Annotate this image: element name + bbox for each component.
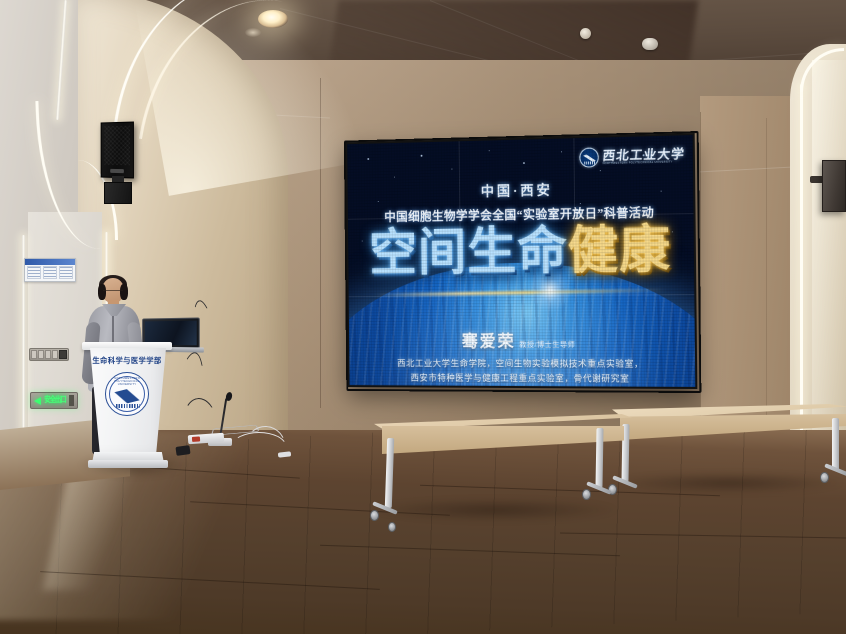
light-switch[interactable] xyxy=(45,350,51,359)
left-arrow-icon xyxy=(34,397,41,405)
exit-sign-text: 安全出口 xyxy=(44,396,66,405)
slide-speaker-name: 骞爱荣 xyxy=(462,332,516,351)
emblem-arc-text: NORTHWESTERN POLYTECHNICAL UNIVERSITY xyxy=(106,377,148,386)
npu-emblem-icon: NORTHWESTERN POLYTECHNICAL UNIVERSITY xyxy=(105,372,149,416)
slide-speaker-title: 教授/博士生导师 xyxy=(519,340,575,349)
notice-column xyxy=(27,266,41,279)
table-shadow xyxy=(370,498,620,522)
university-name-cn: 西北工业大学 xyxy=(602,147,686,162)
slide-affiliation-line1: 西北工业大学生命学院，空间生物实验模拟技术重点实验室， xyxy=(362,356,681,371)
wall-panel-seam xyxy=(700,112,701,442)
wall-switch-panel[interactable] xyxy=(29,348,69,361)
slide-affiliation-line2: 西安市特种医学与健康工程重点实验室，骨代谢研究室 xyxy=(362,371,681,387)
glasses-icon xyxy=(103,290,123,295)
power-adapter xyxy=(175,445,190,456)
university-logo-text: 西北工业大学 NORTHWESTERN POLYTECHNICAL UNIVER… xyxy=(603,147,686,165)
smoke-detector-icon xyxy=(642,38,658,50)
podium-foot-plate xyxy=(88,460,168,468)
university-logo: 西北工业大学 NORTHWESTERN POLYTECHNICAL UNIVER… xyxy=(579,145,685,167)
npu-emblem-icon xyxy=(579,147,599,167)
table-caster xyxy=(582,489,591,500)
wall-equipment-box xyxy=(104,182,132,204)
table-leg xyxy=(595,428,603,488)
led-video-wall[interactable]: 西北工业大学 NORTHWESTERN POLYTECHNICAL UNIVER… xyxy=(345,133,697,389)
wall-panel-seam xyxy=(766,118,767,418)
emblem-ribbon xyxy=(116,404,140,408)
lecture-hall-photo: 安全出口 xyxy=(0,0,846,634)
table-caster xyxy=(370,510,379,521)
exit-sign-end-cap xyxy=(69,395,74,406)
slide-title-part1: 空间生命 xyxy=(369,223,568,282)
light-switch[interactable] xyxy=(38,350,44,359)
light-switch[interactable] xyxy=(31,350,37,359)
slide-main-title: 空间生命健康 xyxy=(348,221,694,282)
notice-body xyxy=(25,265,75,280)
table-shadow xyxy=(610,472,846,494)
lectern-podium: 生命科学与医学学部 NORTHWESTERN POLYTECHNICAL UNI… xyxy=(84,342,170,470)
speaker-brand-badge xyxy=(110,169,124,173)
notice-column xyxy=(59,266,73,279)
wall-speaker-icon xyxy=(822,160,846,212)
sprinkler-head-icon xyxy=(580,28,591,39)
notice-column xyxy=(43,266,57,279)
table-caster xyxy=(820,472,829,483)
wall-notice-sign xyxy=(24,258,76,282)
university-name-en: NORTHWESTERN POLYTECHNICAL UNIVERSITY xyxy=(603,161,685,165)
table-leg xyxy=(832,418,839,470)
slide-speaker-block: 骞爱荣教授/博士生导师 xyxy=(349,327,695,352)
table-caster xyxy=(388,522,396,532)
light-switch[interactable] xyxy=(52,350,58,359)
wall-speaker-icon xyxy=(101,121,134,178)
slide-title-part2: 健康 xyxy=(568,221,672,280)
emergency-exit-sign: 安全出口 xyxy=(30,392,78,409)
podium-department-label: 生命科学与医学学部 xyxy=(84,356,170,366)
switch-indicator[interactable] xyxy=(59,350,67,359)
slide-affiliation: 西北工业大学生命学院，空间生物实验模拟技术重点实验室， 西安市特种医学与健康工程… xyxy=(362,356,681,386)
